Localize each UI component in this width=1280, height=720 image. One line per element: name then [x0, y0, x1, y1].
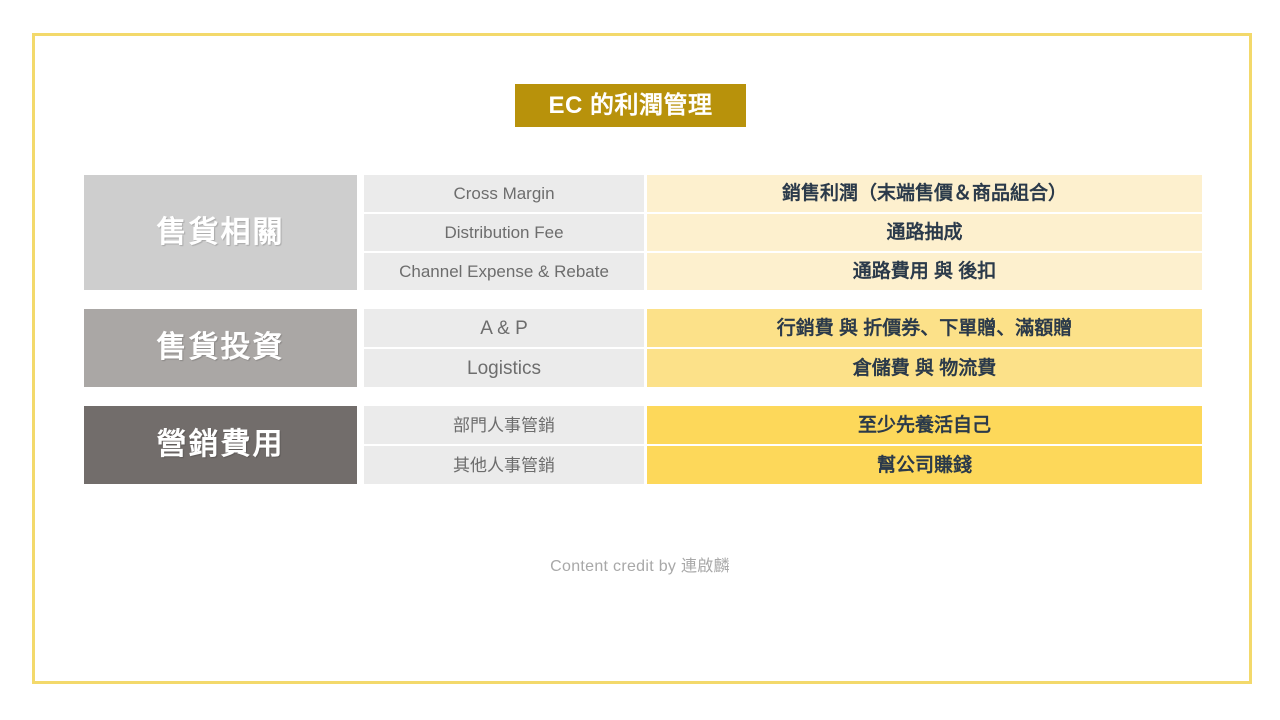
term-label: Distribution Fee	[444, 224, 563, 241]
section-group: 營銷費用 部門人事管銷 至少先養活自己 其他人事管銷 幫公司賺錢	[84, 406, 1202, 484]
description-label: 倉儲費 與 物流費	[853, 359, 997, 378]
credit-text: Content credit by 連啟麟	[550, 558, 730, 575]
category-cell: 售貨相關	[84, 175, 357, 290]
section-group: 售貨投資 A & P 行銷費 與 折價券、下單贈、滿額贈 Logistics	[84, 309, 1202, 387]
description-cell: 通路抽成	[647, 214, 1202, 251]
section-rows: A & P 行銷費 與 折價券、下單贈、滿額贈 Logistics 倉儲費 與 …	[357, 309, 1202, 387]
term-label: A & P	[480, 319, 528, 338]
term-label: Logistics	[467, 359, 541, 378]
description-label: 銷售利潤（末端售價＆商品組合）	[782, 184, 1067, 203]
table-row: Channel Expense & Rebate 通路費用 與 後扣	[357, 253, 1202, 290]
description-label: 行銷費 與 折價券、下單贈、滿額贈	[777, 319, 1073, 338]
term-cell: A & P	[364, 309, 644, 347]
profit-structure-table: 售貨相關 Cross Margin 銷售利潤（末端售價＆商品組合） Distri…	[84, 175, 1202, 484]
section-group: 售貨相關 Cross Margin 銷售利潤（末端售價＆商品組合） Distri…	[84, 175, 1202, 290]
term-label: 其他人事管銷	[453, 457, 555, 474]
credit-line: Content credit by 連啟麟	[0, 552, 1280, 576]
description-cell: 倉儲費 與 物流費	[647, 349, 1202, 387]
table-row: 其他人事管銷 幫公司賺錢	[357, 446, 1202, 484]
term-cell: 其他人事管銷	[364, 446, 644, 484]
section-rows: 部門人事管銷 至少先養活自己 其他人事管銷 幫公司賺錢	[357, 406, 1202, 484]
category-label: 售貨投資	[157, 333, 285, 363]
term-label: Cross Margin	[453, 185, 554, 202]
table-row: 部門人事管銷 至少先養活自己	[357, 406, 1202, 444]
term-cell: Channel Expense & Rebate	[364, 253, 644, 290]
term-cell: Logistics	[364, 349, 644, 387]
table-row: Distribution Fee 通路抽成	[357, 214, 1202, 251]
description-label: 通路抽成	[886, 223, 962, 242]
description-cell: 行銷費 與 折價券、下單贈、滿額贈	[647, 309, 1202, 347]
table-row: Logistics 倉儲費 與 物流費	[357, 349, 1202, 387]
description-cell: 通路費用 與 後扣	[647, 253, 1202, 290]
category-cell: 營銷費用	[84, 406, 357, 484]
term-cell: 部門人事管銷	[364, 406, 644, 444]
description-cell: 幫公司賺錢	[647, 446, 1202, 484]
term-label: 部門人事管銷	[453, 417, 555, 434]
description-label: 幫公司賺錢	[877, 456, 972, 475]
description-label: 通路費用 與 後扣	[853, 262, 997, 281]
term-cell: Distribution Fee	[364, 214, 644, 251]
description-label: 至少先養活自己	[858, 416, 991, 435]
term-label: Channel Expense & Rebate	[399, 263, 609, 280]
category-cell: 售貨投資	[84, 309, 357, 387]
category-label: 售貨相關	[157, 218, 285, 248]
section-rows: Cross Margin 銷售利潤（末端售價＆商品組合） Distributio…	[357, 175, 1202, 290]
table-row: A & P 行銷費 與 折價券、下單贈、滿額贈	[357, 309, 1202, 347]
slide-title-banner: EC 的利潤管理	[515, 84, 746, 127]
description-cell: 銷售利潤（末端售價＆商品組合）	[647, 175, 1202, 212]
term-cell: Cross Margin	[364, 175, 644, 212]
table-row: Cross Margin 銷售利潤（末端售價＆商品組合）	[357, 175, 1202, 212]
page-title: EC 的利潤管理	[548, 94, 712, 118]
slide-canvas: EC 的利潤管理 售貨相關 Cross Margin 銷售利潤（末端售價＆商品組…	[0, 0, 1280, 720]
description-cell: 至少先養活自己	[647, 406, 1202, 444]
category-label: 營銷費用	[157, 430, 285, 460]
